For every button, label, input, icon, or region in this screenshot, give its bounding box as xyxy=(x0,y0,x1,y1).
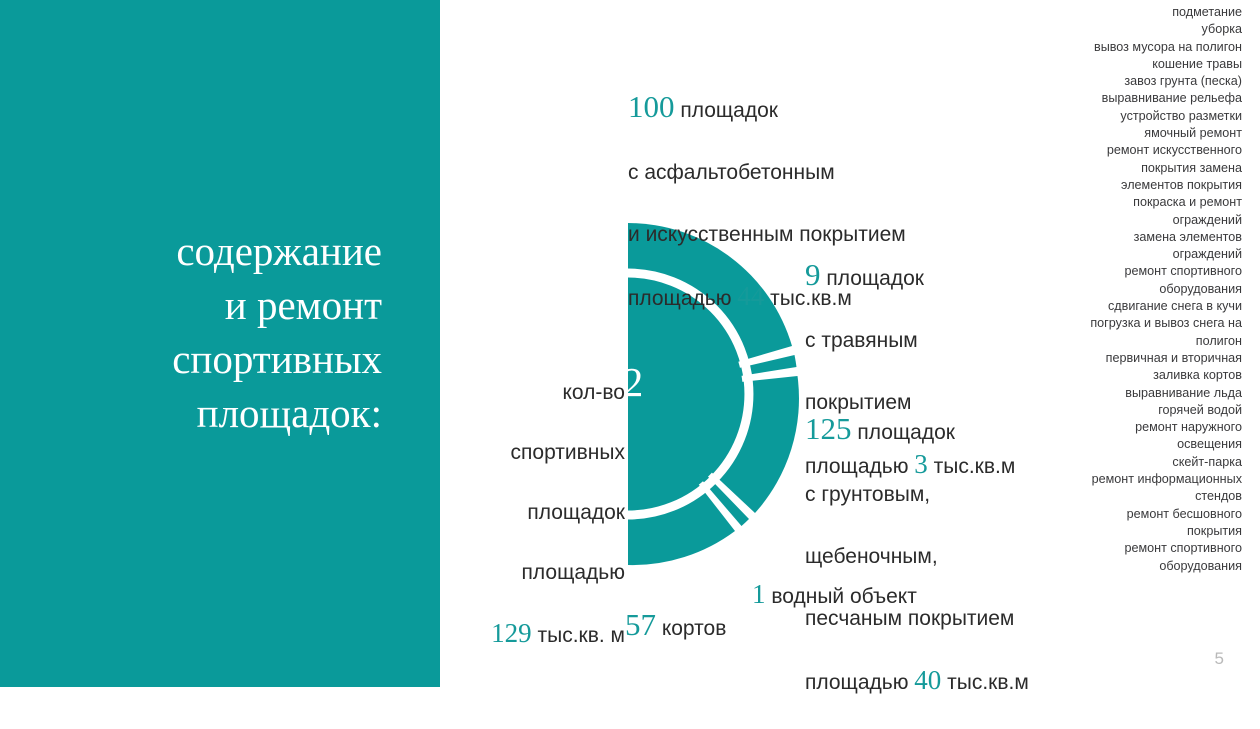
service-item: ремонт бесшовного xyxy=(1052,506,1242,523)
service-item: вывоз мусора на полигон xyxy=(1052,39,1242,56)
service-item: покрытия xyxy=(1052,523,1242,540)
callout-count-line3: площадок xyxy=(420,498,625,528)
callout-ground-area-prefix: площадью xyxy=(805,671,914,694)
callout-water-object: 1 водный объект xyxy=(752,548,917,643)
service-item: ремонт искусственного xyxy=(1052,142,1242,159)
callout-total-count: кол-во спортивных площадок площадью 129 … xyxy=(420,348,625,681)
service-item: выравнивание льда xyxy=(1052,385,1242,402)
callout-ground-number: 125 xyxy=(805,411,852,446)
service-item: ямочный ремонт xyxy=(1052,125,1242,142)
callout-asphalt-number: 100 xyxy=(628,89,675,124)
service-item: элементов покрытия xyxy=(1052,177,1242,194)
callout-ground-area-number: 40 xyxy=(914,665,941,695)
service-item: подметание xyxy=(1052,4,1242,21)
callout-water-number: 1 xyxy=(752,579,766,609)
callout-count-area-suffix: тыс.кв. м xyxy=(532,624,625,647)
callout-count-line4: площадью xyxy=(420,558,625,588)
callout-courts-line: 57 кортов xyxy=(625,609,726,644)
service-item: освещения xyxy=(1052,436,1242,453)
service-item: устройство разметки xyxy=(1052,108,1242,125)
callout-grass-number: 9 xyxy=(805,257,821,292)
service-item: уборка xyxy=(1052,21,1242,38)
callout-water-label: водный объект xyxy=(766,585,917,608)
callout-ground-line5: площадью 40 тыс.кв.м xyxy=(805,665,1029,698)
callout-ground-line1: 125 площадок xyxy=(805,413,1029,448)
callout-grass-line1: 9 площадок xyxy=(805,259,1015,294)
callout-asphalt-line1: 100 площадок xyxy=(628,91,906,126)
service-item: скейт-парка xyxy=(1052,454,1242,471)
service-item: заливка кортов xyxy=(1052,367,1242,384)
callout-courts-number: 57 xyxy=(625,607,656,642)
service-item: выравнивание рельефа xyxy=(1052,90,1242,107)
callout-asphalt-after: площадок xyxy=(675,99,778,122)
service-item: ремонт спортивного xyxy=(1052,540,1242,557)
callout-grass-line2: с травяным xyxy=(805,325,1015,356)
service-item: завоз грунта (песка) xyxy=(1052,73,1242,90)
service-item: погрузка и вывоз снега на xyxy=(1052,315,1242,332)
service-item: ограждений xyxy=(1052,246,1242,263)
service-item: первичная и вторичная xyxy=(1052,350,1242,367)
service-item: покрытия замена xyxy=(1052,160,1242,177)
service-item: кошение травы xyxy=(1052,56,1242,73)
callout-asphalt-area-prefix: площадью xyxy=(628,287,737,310)
callout-ground-line2: с грунтовым, xyxy=(805,479,1029,510)
service-item: покраска и ремонт xyxy=(1052,194,1242,211)
callout-count-area-number: 129 xyxy=(491,618,532,648)
callout-water-line: 1 водный объект xyxy=(752,579,917,612)
callout-count-line5: 129 тыс.кв. м xyxy=(420,618,625,651)
callout-courts-label: кортов xyxy=(656,617,726,640)
callout-ground-after: площадок xyxy=(852,421,955,444)
page-number: 5 xyxy=(1215,649,1224,669)
service-item: полигон xyxy=(1052,333,1242,350)
callout-asphalt-area-number: 44 xyxy=(737,281,764,311)
callout-grass-after: площадок xyxy=(821,267,924,290)
left-title-panel: содержание и ремонт спортивных площадок: xyxy=(0,0,440,687)
service-item: ремонт информационных xyxy=(1052,471,1242,488)
service-item: сдвигание снега в кучи xyxy=(1052,298,1242,315)
callout-count-line1: кол-во xyxy=(420,378,625,408)
service-item: ремонт наружного xyxy=(1052,419,1242,436)
service-item: замена элементов xyxy=(1052,229,1242,246)
service-item: оборудования xyxy=(1052,558,1242,575)
services-list: подметаниеуборкавывоз мусора на полигонк… xyxy=(1052,4,1242,575)
service-item: ремонт спортивного xyxy=(1052,263,1242,280)
callout-count-line2: спортивных xyxy=(420,438,625,468)
callout-ground-area-suffix: тыс.кв.м xyxy=(941,671,1029,694)
callout-asphalt-line2: с асфальтобетонным xyxy=(628,157,906,188)
service-item: ограждений xyxy=(1052,212,1242,229)
callout-courts: 57 кортов xyxy=(625,578,726,675)
page-title: содержание и ремонт спортивных площадок: xyxy=(0,224,382,440)
service-item: горячей водой xyxy=(1052,402,1242,419)
service-item: оборудования xyxy=(1052,281,1242,298)
service-item: стендов xyxy=(1052,488,1242,505)
